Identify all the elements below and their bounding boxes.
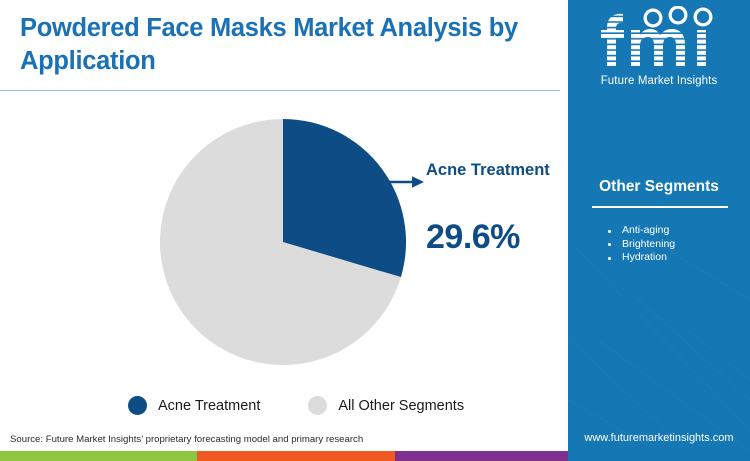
list-item: Hydration	[608, 251, 675, 265]
globe-icons	[644, 6, 713, 28]
brand-sidebar: Future Market Insights Other Segments An…	[568, 0, 750, 451]
callout-value: 29.6%	[426, 218, 520, 257]
other-segments-list: Anti-aging Brightening Hydration	[608, 224, 675, 265]
list-item: Anti-aging	[608, 224, 675, 238]
callout-label: Acne Treatment	[426, 160, 556, 181]
website-url[interactable]: www.futuremarketinsights.com	[568, 432, 750, 444]
fmi-logo-mark-icon	[593, 6, 725, 68]
bottom-color-bar	[0, 451, 750, 461]
legend-item-acne-treatment: Acne Treatment	[128, 396, 260, 415]
bar-segment-green	[0, 451, 197, 461]
main-content: Powdered Face Masks Market Analysis by A…	[0, 0, 568, 451]
arrow-right-icon	[388, 174, 424, 190]
legend-label: Acne Treatment	[158, 398, 260, 414]
legend-swatch-icon	[308, 396, 327, 415]
list-item: Brightening	[608, 238, 675, 252]
pie-chart-svg	[160, 119, 406, 365]
legend-item-all-other-segments: All Other Segments	[308, 396, 464, 415]
legend-label: All Other Segments	[338, 398, 464, 414]
infographic-page: Powdered Face Masks Market Analysis by A…	[0, 0, 750, 461]
bar-segment-blue	[568, 451, 750, 461]
pie-chart	[160, 119, 406, 365]
bar-segment-purple	[395, 451, 568, 461]
page-title: Powdered Face Masks Market Analysis by A…	[20, 12, 520, 78]
title-divider	[0, 90, 560, 91]
other-segments-divider	[592, 206, 728, 208]
logo-subtitle: Future Market Insights	[568, 75, 750, 87]
legend-swatch-icon	[128, 396, 147, 415]
chart-legend: Acne Treatment All Other Segments	[128, 396, 464, 415]
bar-segment-orange	[197, 451, 395, 461]
source-note: Source: Future Market Insights’ propriet…	[10, 434, 363, 445]
fmi-logo: Future Market Insights	[568, 6, 750, 87]
other-segments-title: Other Segments	[568, 178, 750, 196]
